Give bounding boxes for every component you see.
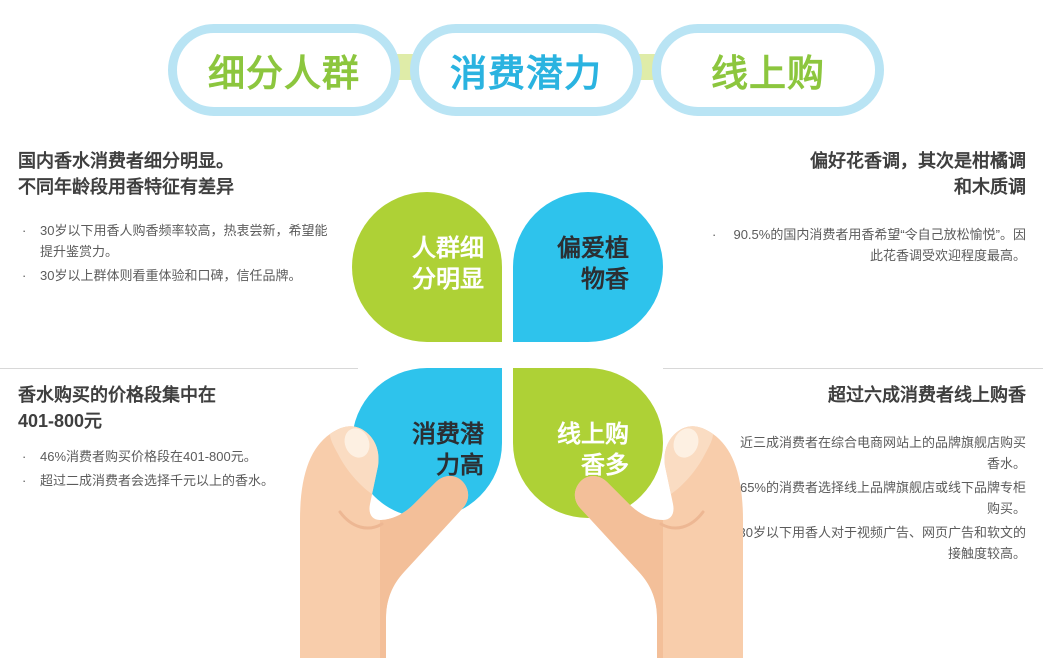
petal-bottom-left-label: 消费潜力高 [412,419,484,481]
header-pill-1-label: 细分人群 [168,24,400,116]
infographic-canvas: 细分人群 消费潜力 线上购 国内香水消费者细分明显。 不同年龄段用香特征有差异 … [0,0,1043,658]
bullet-icon: · [22,446,26,467]
petal-top-right[interactable]: 偏爱植物香 [513,192,663,342]
quadrant-top-left-bullets: ·30岁以下用香人购香频率较高，热衷尝新，希望能提升鉴赏力。 ·30岁以上群体则… [18,220,338,286]
divider-right [663,368,1043,369]
pinwheel-diagram: 人群细分明显 偏爱植物香 消费潜力高 线上购香多 [352,192,668,544]
petal-top-right-label: 偏爱植物香 [557,233,629,295]
quadrant-bottom-left-bullets: ·46%消费者购买价格段在401-800元。 ·超过二成消费者会选择千元以上的香… [18,446,338,491]
quadrant-bottom-right-bullets: ·近三成消费者在综合电商网站上的品牌旗舰店购买香水。 ·65%的消费者选择线上品… [708,432,1026,564]
header-pill-3-label: 线上购 [652,24,884,116]
petal-bottom-right-label: 线上购香多 [557,419,629,481]
list-item-text: 超过二成消费者会选择千元以上的香水。 [40,473,274,488]
quadrant-top-right: 偏好花香调，其次是柑橘调 和木质调 ·90.5%的国内消费者用香希望“令自己放松… [708,148,1026,266]
petal-line-2: 力高 [436,452,484,479]
list-item-text: 近三成消费者在综合电商网站上的品牌旗舰店购买香水。 [740,435,1026,471]
list-item: ·超过二成消费者会选择千元以上的香水。 [18,470,338,491]
divider-left [0,368,358,369]
heading-line-1: 超过六成消费者线上购香 [708,382,1026,408]
heading-line-2: 401-800元 [18,408,338,434]
heading-line-1: 偏好花香调，其次是柑橘调 [708,148,1026,174]
list-item: ·30岁以下用香人购香频率较高，热衷尝新，希望能提升鉴赏力。 [18,220,338,262]
petal-line-2: 物香 [581,266,629,293]
quadrant-top-left-heading: 国内香水消费者细分明显。 不同年龄段用香特征有差异 [18,148,338,200]
list-item: ·90.5%的国内消费者用香希望“令自己放松愉悦”。因此花香调受欢迎程度最高。 [708,224,1026,266]
petal-bottom-left[interactable]: 消费潜力高 [352,368,502,518]
petal-line-1: 偏爱植 [557,235,629,262]
list-item: ·65%的消费者选择线上品牌旗舰店或线下品牌专柜购买。 [708,477,1026,519]
bullet-icon: · [712,522,716,543]
list-item-text: 90.5%的国内消费者用香希望“令自己放松愉悦”。因此花香调受欢迎程度最高。 [733,227,1026,263]
list-item: ·30岁以上群体则看重体验和口碑，信任品牌。 [18,265,338,286]
bullet-icon: · [712,432,716,453]
quadrant-bottom-right: 超过六成消费者线上购香 ·近三成消费者在综合电商网站上的品牌旗舰店购买香水。 ·… [708,382,1026,564]
list-item-text: 30岁以下用香人对于视频广告、网页广告和软文的接触度较高。 [739,525,1026,561]
list-item: ·46%消费者购买价格段在401-800元。 [18,446,338,467]
list-item-text: 30岁以上群体则看重体验和口碑，信任品牌。 [40,268,301,283]
bullet-icon: · [22,265,26,286]
bullet-icon: · [712,477,716,498]
header-banner: 细分人群 消费潜力 线上购 [0,0,1043,140]
bullet-icon: · [22,220,26,241]
heading-line-2: 不同年龄段用香特征有差异 [18,174,338,200]
heading-line-2: 和木质调 [708,174,1026,200]
petal-line-1: 线上购 [557,421,629,448]
list-item-text: 30岁以下用香人购香频率较高，热衷尝新，希望能提升鉴赏力。 [40,223,327,259]
petal-bottom-right[interactable]: 线上购香多 [513,368,663,518]
petal-top-left[interactable]: 人群细分明显 [352,192,502,342]
bullet-icon: · [712,224,716,245]
quadrant-top-right-heading: 偏好花香调，其次是柑橘调 和木质调 [708,148,1026,200]
header-pill-2-label: 消费潜力 [410,24,642,116]
list-item-text: 65%的消费者选择线上品牌旗舰店或线下品牌专柜购买。 [740,480,1026,516]
heading-line-1: 国内香水消费者细分明显。 [18,148,338,174]
quadrant-top-right-bullets: ·90.5%的国内消费者用香希望“令自己放松愉悦”。因此花香调受欢迎程度最高。 [708,224,1026,266]
list-item: ·30岁以下用香人对于视频广告、网页广告和软文的接触度较高。 [708,522,1026,564]
bullet-icon: · [22,470,26,491]
quadrant-top-left: 国内香水消费者细分明显。 不同年龄段用香特征有差异 ·30岁以下用香人购香频率较… [18,148,338,286]
petal-line-2: 香多 [581,452,629,479]
heading-line-1: 香水购买的价格段集中在 [18,382,338,408]
quadrant-bottom-left: 香水购买的价格段集中在 401-800元 ·46%消费者购买价格段在401-80… [18,382,338,491]
quadrant-bottom-left-heading: 香水购买的价格段集中在 401-800元 [18,382,338,434]
petal-line-1: 消费潜 [412,421,484,448]
petal-line-2: 分明显 [412,266,484,293]
list-item-text: 46%消费者购买价格段在401-800元。 [40,449,257,464]
petal-line-1: 人群细 [412,235,484,262]
list-item: ·近三成消费者在综合电商网站上的品牌旗舰店购买香水。 [708,432,1026,474]
petal-top-left-label: 人群细分明显 [412,233,484,295]
quadrant-bottom-right-heading: 超过六成消费者线上购香 [708,382,1026,408]
